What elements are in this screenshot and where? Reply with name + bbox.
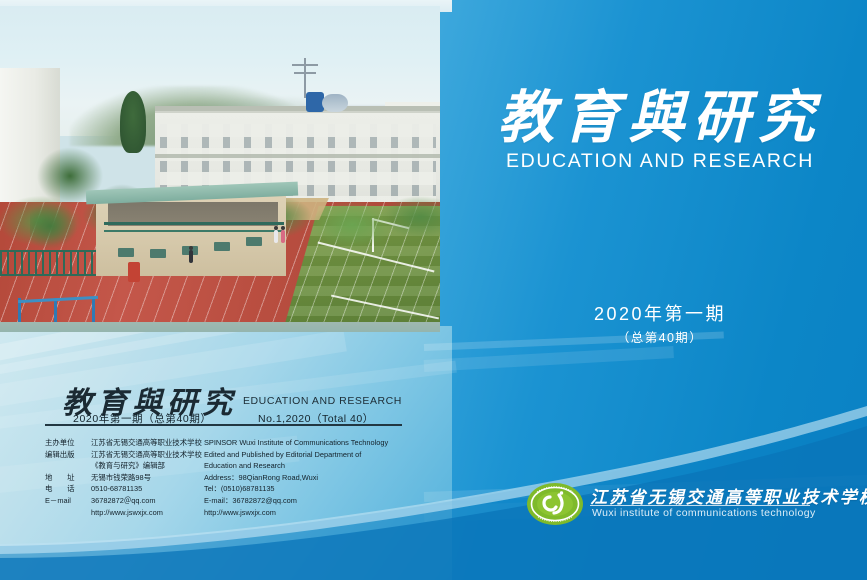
- photo-foreground-roof: [0, 322, 440, 332]
- imprint-label: E－mail: [45, 495, 91, 507]
- imprint-row: Address：98QianRong Road,Wuxi: [204, 472, 404, 484]
- person-head: [274, 226, 278, 230]
- imprint-value: 江苏省无锡交通高等职业技术学校: [91, 449, 202, 461]
- person-head: [281, 226, 285, 230]
- journal-cover-page: 教育與研究 EDUCATION AND RESEARCH 2020年第一期 （总…: [0, 0, 867, 580]
- imprint-row: E-mail：36782872@qq.com: [204, 495, 404, 507]
- imprint-row: Edited and Published by Editorial Depart…: [204, 449, 404, 461]
- imprint-row: Tel：(0510)68781135: [204, 483, 404, 495]
- window: [150, 249, 166, 258]
- imprint-value: 36782872＠qq.com: [91, 495, 156, 507]
- school-name-underline: [590, 505, 810, 506]
- imprint-label: [45, 460, 91, 472]
- issue-total-label-cn: （总第40期）: [470, 327, 850, 346]
- imprint-value: http://www.jswxjx.com: [91, 507, 163, 519]
- imprint-label: 电 话: [45, 483, 91, 495]
- imprint-label: 编辑出版: [45, 449, 91, 461]
- masthead-divider: [45, 424, 402, 426]
- imprint-row: SPINSOR Wuxi Institute of Communications…: [204, 437, 404, 449]
- imprint-value: 《教育与研究》编辑部: [91, 460, 165, 472]
- school-emblem-icon: [526, 482, 584, 526]
- person: [281, 230, 285, 243]
- imprint-value: 0510-68781135: [91, 483, 142, 495]
- person-head: [189, 246, 193, 250]
- school-logo: 江苏省无锡交通高等职业技术学校 Wuxi institute of commun…: [526, 482, 816, 528]
- person: [274, 230, 278, 243]
- masthead-title-en: EDUCATION AND RESEARCH: [243, 395, 402, 407]
- imprint-row: 电 话0510-68781135: [45, 483, 205, 495]
- imprint-label: 主办单位: [45, 437, 91, 449]
- imprint-label: 地 址: [45, 472, 91, 484]
- imprint-label: [45, 507, 91, 519]
- window: [118, 248, 134, 257]
- imprint-row: E－mail36782872＠qq.com: [45, 495, 205, 507]
- antenna-arm: [292, 64, 318, 66]
- page-title-cn: 教育與研究: [470, 72, 850, 154]
- imprint-row: 《教育与研究》编辑部: [45, 460, 205, 472]
- person: [189, 250, 193, 263]
- page-title-en: EDUCATION AND RESEARCH: [470, 150, 850, 173]
- antenna-arm: [294, 72, 316, 74]
- imprint-value: 无锡市钱荣路98号: [91, 472, 151, 484]
- campus-photo: [0, 6, 440, 332]
- imprint-column-cn: 主办单位江苏省无锡交通高等职业技术学校编辑出版江苏省无锡交通高等职业技术学校《教…: [45, 437, 205, 518]
- window: [214, 242, 230, 251]
- imprint-row: Education and Research: [204, 460, 404, 472]
- school-name-en: Wuxi institute of communications technol…: [592, 507, 816, 519]
- imprint-value: 江苏省无锡交通高等职业技术学校: [91, 437, 202, 449]
- imprint-row: 地 址无锡市钱荣路98号: [45, 472, 205, 484]
- window: [246, 237, 262, 246]
- imprint-row: http://www.jswxjx.com: [204, 507, 404, 519]
- grandstand-railing: [104, 230, 284, 232]
- satellite-dish: [322, 94, 348, 112]
- fence: [0, 250, 96, 276]
- trash-bin: [128, 262, 140, 282]
- grandstand-railing: [104, 222, 284, 225]
- imprint-column-en: SPINSOR Wuxi Institute of Communications…: [204, 437, 404, 518]
- imprint-row: 主办单位江苏省无锡交通高等职业技术学校: [45, 437, 205, 449]
- issue-label-cn: 2020年第一期: [470, 300, 850, 326]
- imprint-row: 编辑出版江苏省无锡交通高等职业技术学校: [45, 449, 205, 461]
- imprint-row: http://www.jswxjx.com: [45, 507, 205, 519]
- building-stripe: [155, 154, 440, 158]
